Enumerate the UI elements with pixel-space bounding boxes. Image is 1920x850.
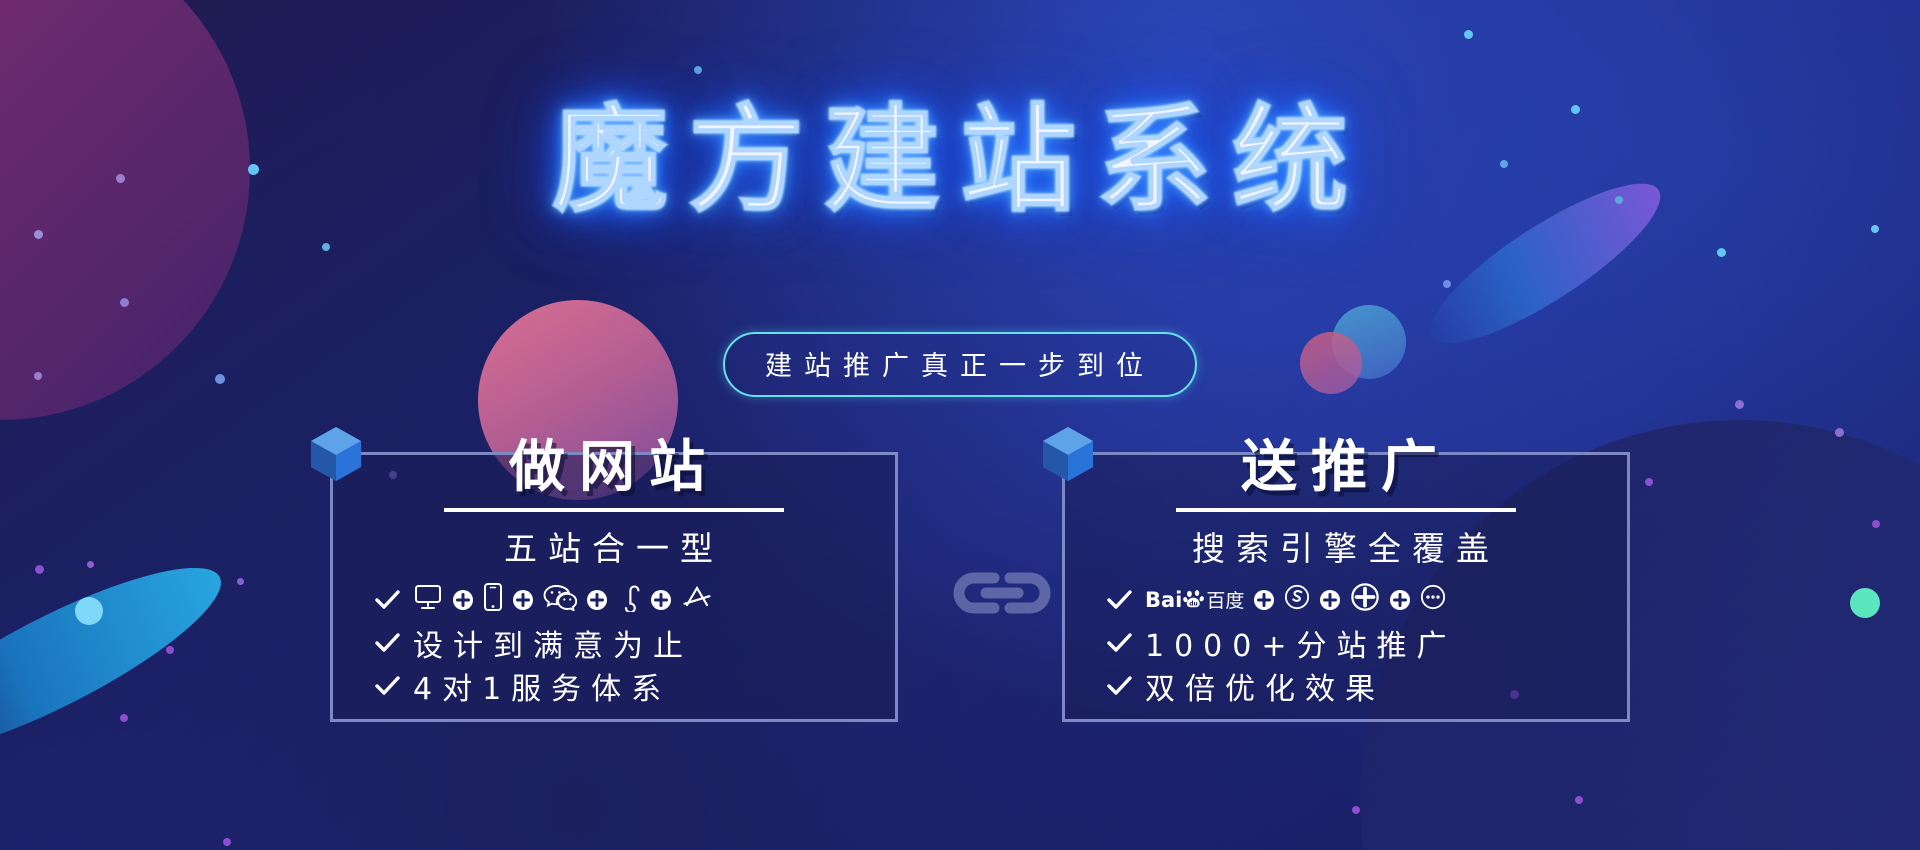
monitor-icon: [413, 583, 443, 616]
star-dot: [120, 714, 128, 722]
check-icon: [1105, 672, 1133, 700]
check-icon: [1105, 586, 1133, 614]
star-dot: [223, 838, 231, 846]
main-title: 魔方建站系统: [552, 88, 1368, 233]
card-content: 做网站 五站合一型: [333, 437, 895, 711]
360-icon: [1350, 582, 1380, 617]
star-dot: [1835, 428, 1844, 437]
check-icon: [373, 586, 401, 614]
link-icon: [942, 558, 1062, 628]
wechat-icon: [543, 583, 577, 616]
feature-row: 双倍优化效果: [1065, 668, 1627, 704]
star-dot: [1735, 400, 1744, 409]
star-dot: [1443, 280, 1451, 288]
subtitle-pill: 建站推广真正一步到位: [723, 332, 1197, 397]
star-dot: [1872, 520, 1880, 528]
plus-icon: [512, 589, 534, 611]
baidu-logo: Bai du 百度: [1145, 586, 1244, 613]
star-dot: [1352, 806, 1360, 814]
feature-text: 1000+分站推广: [1145, 621, 1456, 665]
card-subheading: 搜索引擎全覆盖: [1065, 522, 1627, 570]
card-make-website[interactable]: 做网站 五站合一型: [330, 452, 898, 722]
more-icon: [1420, 584, 1446, 615]
card-heading: 送推广: [1065, 437, 1627, 500]
card-content: 送推广 搜索引擎全覆盖 Bai du 百度: [1065, 437, 1627, 711]
star-dot: [322, 243, 330, 251]
platform-icon-strip: [413, 582, 713, 617]
heading-underline: [1176, 508, 1516, 512]
card-heading: 做网站: [333, 437, 895, 500]
plus-icon: [452, 589, 474, 611]
feature-row: 1000+分站推广: [1065, 625, 1627, 661]
feature-text: 双倍优化效果: [1145, 664, 1385, 708]
feature-text: 设计到满意为止: [413, 621, 693, 665]
plus-icon: [1253, 589, 1275, 611]
card-free-promotion[interactable]: 送推广 搜索引擎全覆盖 Bai du 百度: [1062, 452, 1630, 722]
star-dot: [1645, 478, 1653, 486]
dot-cyan-large-decoration: [75, 597, 103, 625]
star-dot: [166, 646, 174, 654]
check-icon: [1105, 629, 1133, 657]
star-dot: [1575, 796, 1583, 804]
star-dot: [237, 578, 244, 585]
feature-text: 4对1服务体系: [413, 664, 671, 708]
baidu-cn-text: 百度: [1206, 586, 1244, 613]
title-block: 魔方建站系统: [0, 88, 1920, 233]
circle-teal-decoration: [1332, 305, 1406, 379]
star-dot: [120, 298, 129, 307]
star-dot: [1717, 248, 1726, 257]
card-subheading: 五站合一型: [333, 522, 895, 570]
plus-icon: [586, 589, 608, 611]
svg-text:du: du: [1190, 600, 1198, 607]
app-store-icon: [681, 583, 713, 616]
star-dot: [34, 372, 42, 380]
star-dot: [87, 561, 94, 568]
plus-icon: [650, 589, 672, 611]
feature-row-icons: [333, 582, 895, 618]
dot-mint-decoration: [1850, 588, 1880, 618]
search-engine-icon-strip: Bai du 百度: [1145, 582, 1446, 617]
check-icon: [373, 672, 401, 700]
circle-rose-decoration: [1300, 332, 1362, 394]
star-dot: [1464, 30, 1473, 39]
mobile-icon: [483, 582, 503, 617]
sogou-icon: [1284, 584, 1310, 615]
baidu-paw-icon: du: [1183, 589, 1205, 611]
baidu-latin-text: Bai: [1145, 588, 1182, 612]
comet-left-decoration: [0, 537, 240, 785]
music-note-icon: [617, 582, 641, 617]
check-icon: [373, 629, 401, 657]
star-dot: [694, 66, 702, 74]
star-dot: [215, 374, 225, 384]
plus-icon: [1389, 589, 1411, 611]
plus-icon: [1319, 589, 1341, 611]
feature-row: 设计到满意为止: [333, 625, 895, 661]
promo-banner: 魔方建站系统 建站推广真正一步到位 做网站 五站合一型: [0, 0, 1920, 850]
feature-row-icons: Bai du 百度: [1065, 582, 1627, 618]
subtitle-text: 建站推广真正一步到位: [765, 344, 1155, 383]
heading-underline: [444, 508, 784, 512]
feature-row: 4对1服务体系: [333, 668, 895, 704]
star-dot: [35, 565, 44, 574]
